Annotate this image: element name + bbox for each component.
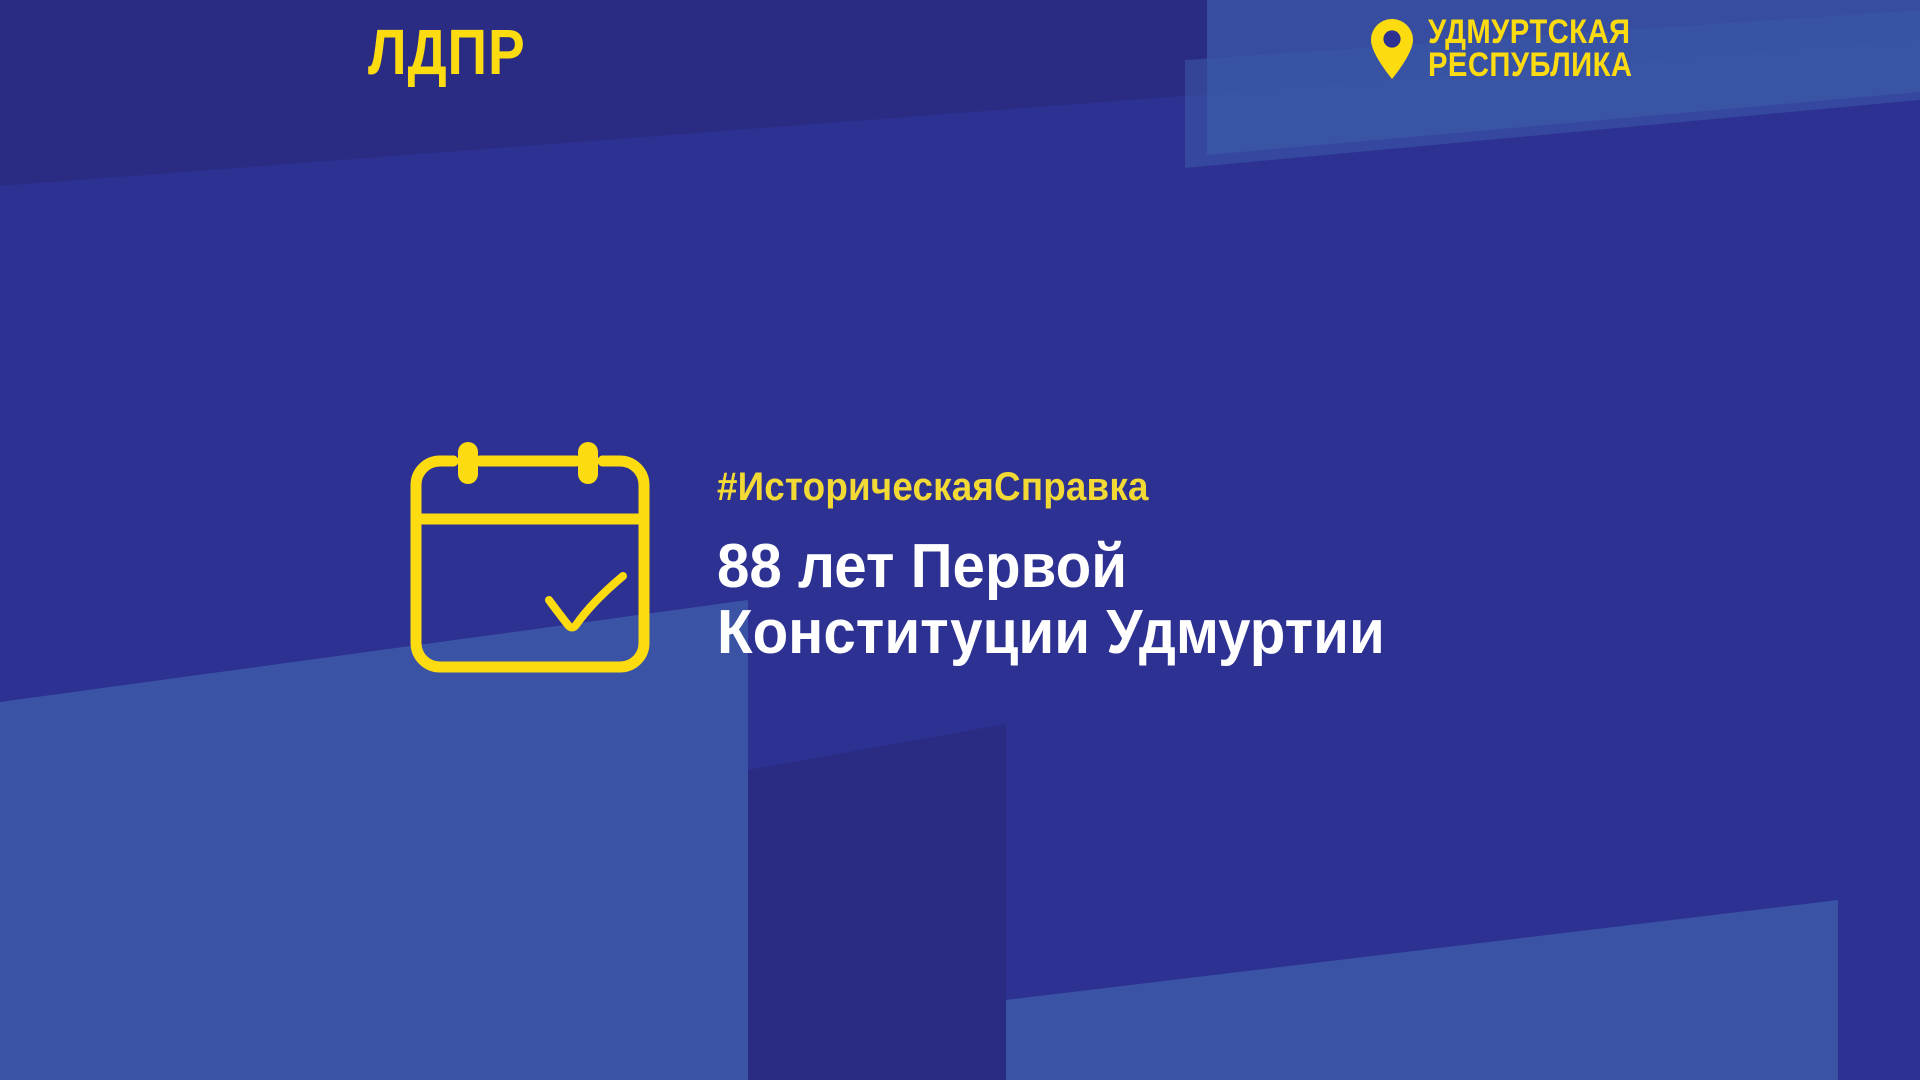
hashtag-label: #ИсторическаяСправка [717,466,1729,508]
poster-canvas: ЛДПР УДМУРТСКАЯ РЕСПУБЛИКА [0,0,1920,1080]
headline-line-1: 88 лет Первой [717,534,1751,600]
calendar-ring-left [458,442,478,484]
calendar-checkmark [549,576,623,628]
main-content: #ИсторическаяСправка 88 лет Первой Конст… [0,0,1920,1080]
copy-block: #ИсторическаяСправка 88 лет Первой Конст… [717,466,1817,665]
calendar-check-icon [396,440,664,690]
page-title: 88 лет Первой Конституции Удмуртии [717,534,1751,665]
calendar-ring-right [578,442,598,484]
headline-line-2: Конституции Удмуртии [717,600,1751,666]
